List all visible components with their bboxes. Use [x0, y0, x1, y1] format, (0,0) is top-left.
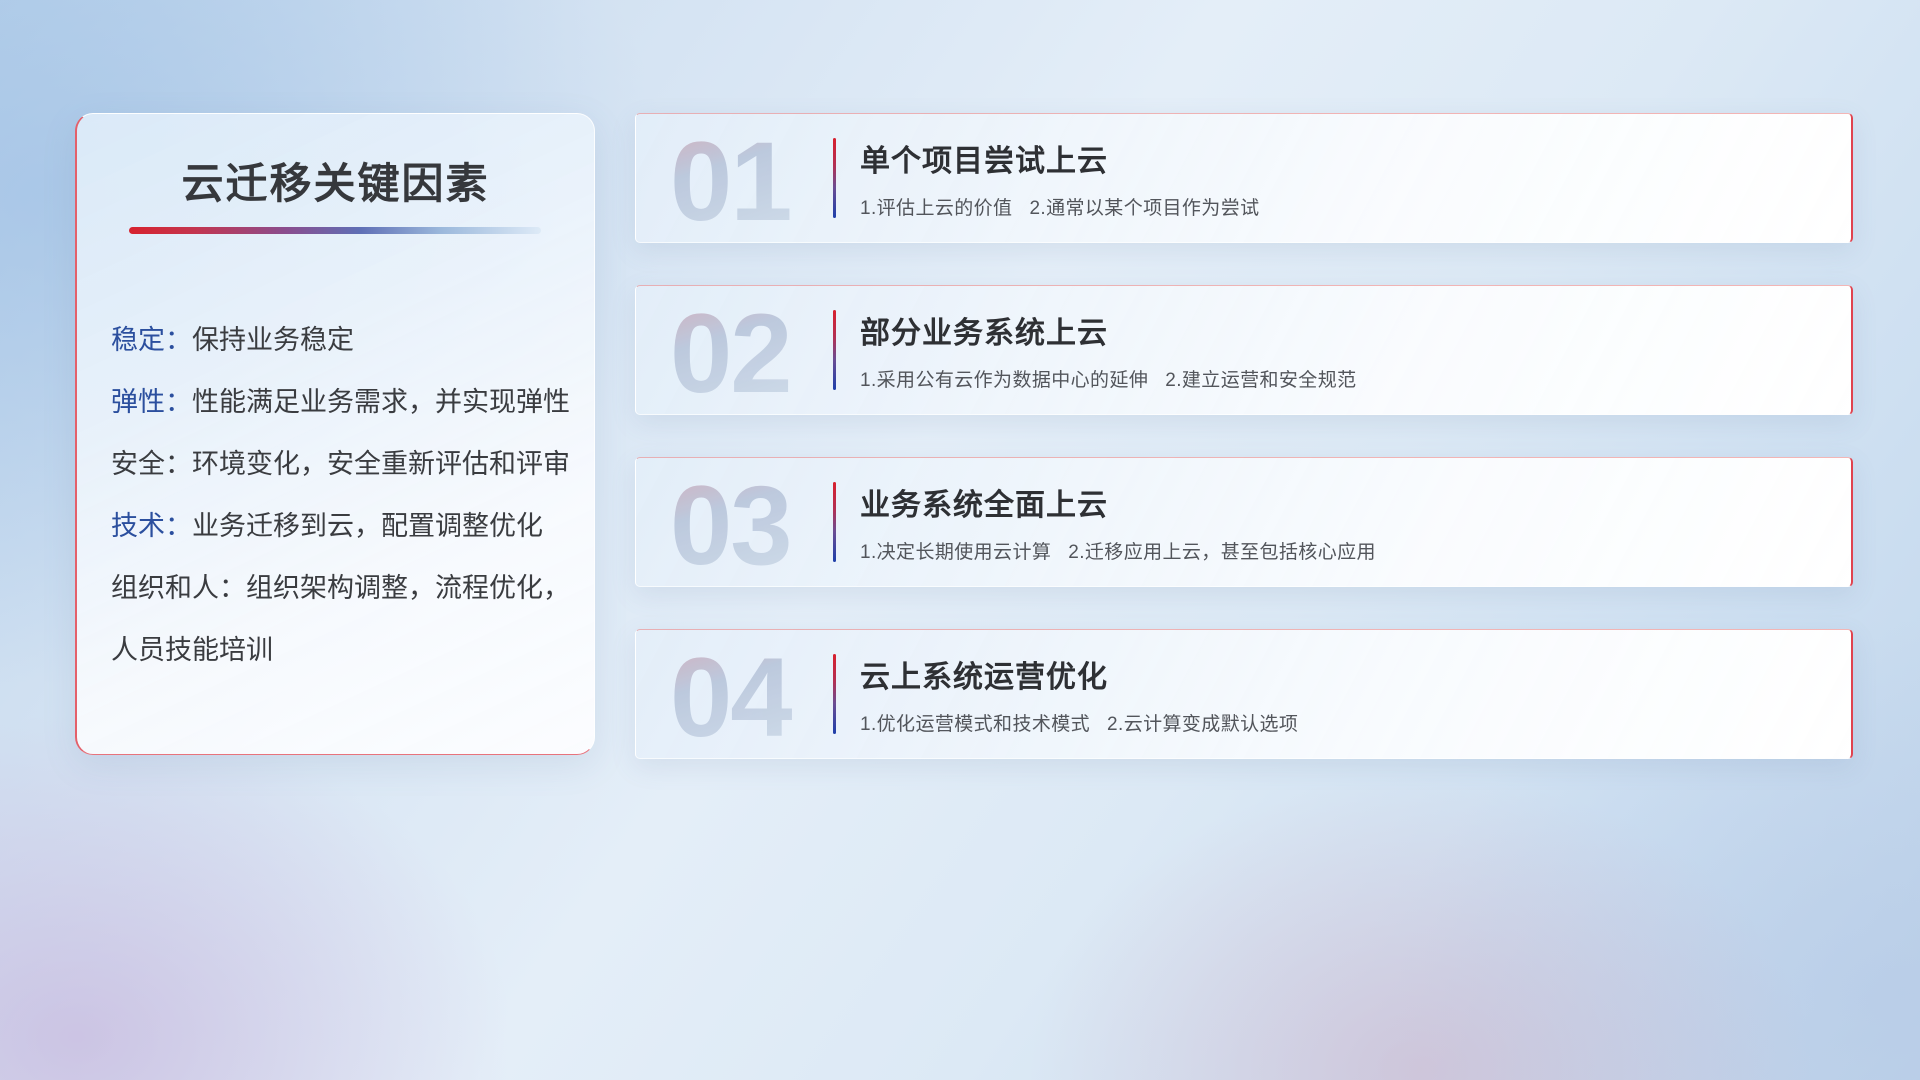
factor-label: 稳定： — [111, 325, 192, 355]
factor-text: 组织架构调整，流程优化， — [246, 573, 570, 603]
stage-card-list: 01单个项目尝试上云1.评估上云的价值2.通常以某个项目作为尝试02部分业务系统… — [635, 113, 1853, 801]
card-body: 业务系统全面上云1.决定长期使用云计算2.迁移应用上云，甚至包括核心应用 — [860, 480, 1827, 564]
factor-label: 弹性： — [111, 387, 192, 417]
factor-row: 组织和人：组织架构调整，流程优化， — [111, 557, 574, 619]
stage-number-graphic: 04 — [664, 640, 834, 748]
card-description: 1.决定长期使用云计算2.迁移应用上云，甚至包括核心应用 — [860, 537, 1827, 564]
card-description-point-1: 1.采用公有云作为数据中心的延伸 — [860, 370, 1148, 391]
slide-canvas: 云迁移关键因素 稳定：保持业务稳定弹性：性能满足业务需求，并实现弹性安全：环境变… — [0, 0, 1920, 1080]
factor-text: 保持业务稳定 — [192, 325, 354, 355]
factor-row: 安全：环境变化，安全重新评估和评审 — [111, 433, 574, 495]
factor-text: 环境变化，安全重新评估和评审 — [192, 449, 570, 479]
stage-number-graphic: 03 — [664, 468, 834, 576]
factor-text: 业务迁移到云，配置调整优化 — [192, 511, 543, 541]
factor-label: 组织和人： — [111, 573, 246, 603]
card-body: 部分业务系统上云1.采用公有云作为数据中心的延伸2.建立运营和安全规范 — [860, 308, 1827, 392]
svg-text:02: 02 — [670, 296, 791, 404]
card-heading: 部分业务系统上云 — [860, 308, 1827, 352]
card-divider-gradient-line — [833, 482, 836, 562]
svg-text:01: 01 — [670, 124, 791, 232]
card-description-point-2: 2.通常以某个项目作为尝试 — [1029, 198, 1259, 219]
card-divider-gradient-line — [833, 138, 836, 218]
card-description-point-2: 2.迁移应用上云，甚至包括核心应用 — [1068, 542, 1376, 563]
stage-card[interactable]: 01单个项目尝试上云1.评估上云的价值2.通常以某个项目作为尝试 — [635, 113, 1853, 243]
factor-row: 技术：业务迁移到云，配置调整优化 — [111, 495, 574, 557]
card-heading: 云上系统运营优化 — [860, 652, 1827, 696]
svg-text:04: 04 — [670, 640, 792, 748]
card-description: 1.优化运营模式和技术模式2.云计算变成默认选项 — [860, 709, 1827, 736]
stage-card[interactable]: 04云上系统运营优化1.优化运营模式和技术模式2.云计算变成默认选项 — [635, 629, 1853, 759]
factor-row: 稳定：保持业务稳定 — [111, 309, 574, 371]
stage-number-graphic: 02 — [664, 296, 834, 404]
card-description-point-1: 1.优化运营模式和技术模式 — [860, 714, 1090, 735]
factor-text: 人员技能培训 — [111, 635, 273, 665]
card-divider-gradient-line — [833, 654, 836, 734]
factor-label: 技术： — [111, 511, 192, 541]
stage-card[interactable]: 02部分业务系统上云1.采用公有云作为数据中心的延伸2.建立运营和安全规范 — [635, 285, 1853, 415]
card-body: 单个项目尝试上云1.评估上云的价值2.通常以某个项目作为尝试 — [860, 136, 1827, 220]
factor-row: 弹性：性能满足业务需求，并实现弹性 — [111, 371, 574, 433]
card-description-point-2: 2.建立运营和安全规范 — [1165, 370, 1356, 391]
factor-label: 安全： — [111, 449, 192, 479]
svg-text:03: 03 — [670, 468, 791, 576]
factor-text: 性能满足业务需求，并实现弹性 — [192, 387, 570, 417]
card-divider-gradient-line — [833, 310, 836, 390]
factor-row: 人员技能培训 — [111, 619, 574, 681]
card-heading: 业务系统全面上云 — [860, 480, 1827, 524]
card-description-point-2: 2.云计算变成默认选项 — [1107, 714, 1298, 735]
page-title: 云迁移关键因素 — [77, 150, 594, 211]
card-description-point-1: 1.评估上云的价值 — [860, 198, 1012, 219]
key-factors-panel: 云迁移关键因素 稳定：保持业务稳定弹性：性能满足业务需求，并实现弹性安全：环境变… — [75, 113, 595, 755]
factor-list: 稳定：保持业务稳定弹性：性能满足业务需求，并实现弹性安全：环境变化，安全重新评估… — [111, 309, 574, 681]
stage-number-graphic: 01 — [664, 124, 834, 232]
stage-card[interactable]: 03业务系统全面上云1.决定长期使用云计算2.迁移应用上云，甚至包括核心应用 — [635, 457, 1853, 587]
card-description: 1.评估上云的价值2.通常以某个项目作为尝试 — [860, 193, 1827, 220]
card-body: 云上系统运营优化1.优化运营模式和技术模式2.云计算变成默认选项 — [860, 652, 1827, 736]
card-description-point-1: 1.决定长期使用云计算 — [860, 542, 1051, 563]
title-underline-gradient-bar — [129, 227, 541, 234]
card-heading: 单个项目尝试上云 — [860, 136, 1827, 180]
card-description: 1.采用公有云作为数据中心的延伸2.建立运营和安全规范 — [860, 365, 1827, 392]
